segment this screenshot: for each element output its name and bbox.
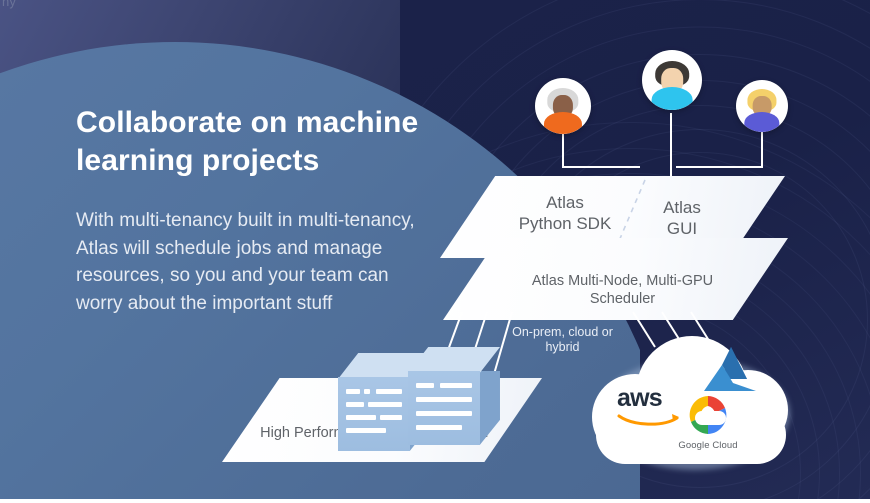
server-rack-right	[408, 347, 500, 447]
aws-smile-icon	[617, 412, 683, 428]
avatar-shirt	[744, 112, 779, 132]
avatar-figure	[736, 80, 788, 132]
avatar-figure	[642, 50, 702, 110]
user-avatar-center	[642, 50, 702, 110]
google-cloud-logo-icon	[685, 394, 731, 436]
slide-root: hy Collaborate on machine learning proje…	[0, 0, 870, 503]
architecture-diagram: Atlas Python SDK Atlas GUI Atlas Multi-N…	[0, 0, 870, 503]
server-top	[408, 347, 500, 373]
avatar-figure	[535, 78, 591, 134]
azure-logo-icon	[700, 345, 762, 397]
user-avatar-right	[736, 80, 788, 132]
avatar-shirt	[652, 87, 693, 110]
deployment-note-line-2: hybrid	[545, 340, 579, 354]
avatar-shirt	[544, 112, 582, 134]
user-avatar-left	[535, 78, 591, 134]
google-cloud-wordmark: Google Cloud	[658, 440, 758, 451]
aws-wordmark: aws	[617, 386, 683, 411]
server-side	[480, 371, 500, 445]
bottom-edge-strip	[0, 499, 870, 503]
server-face	[408, 371, 480, 445]
aws-logo: aws	[617, 386, 683, 420]
server-face	[338, 377, 410, 451]
